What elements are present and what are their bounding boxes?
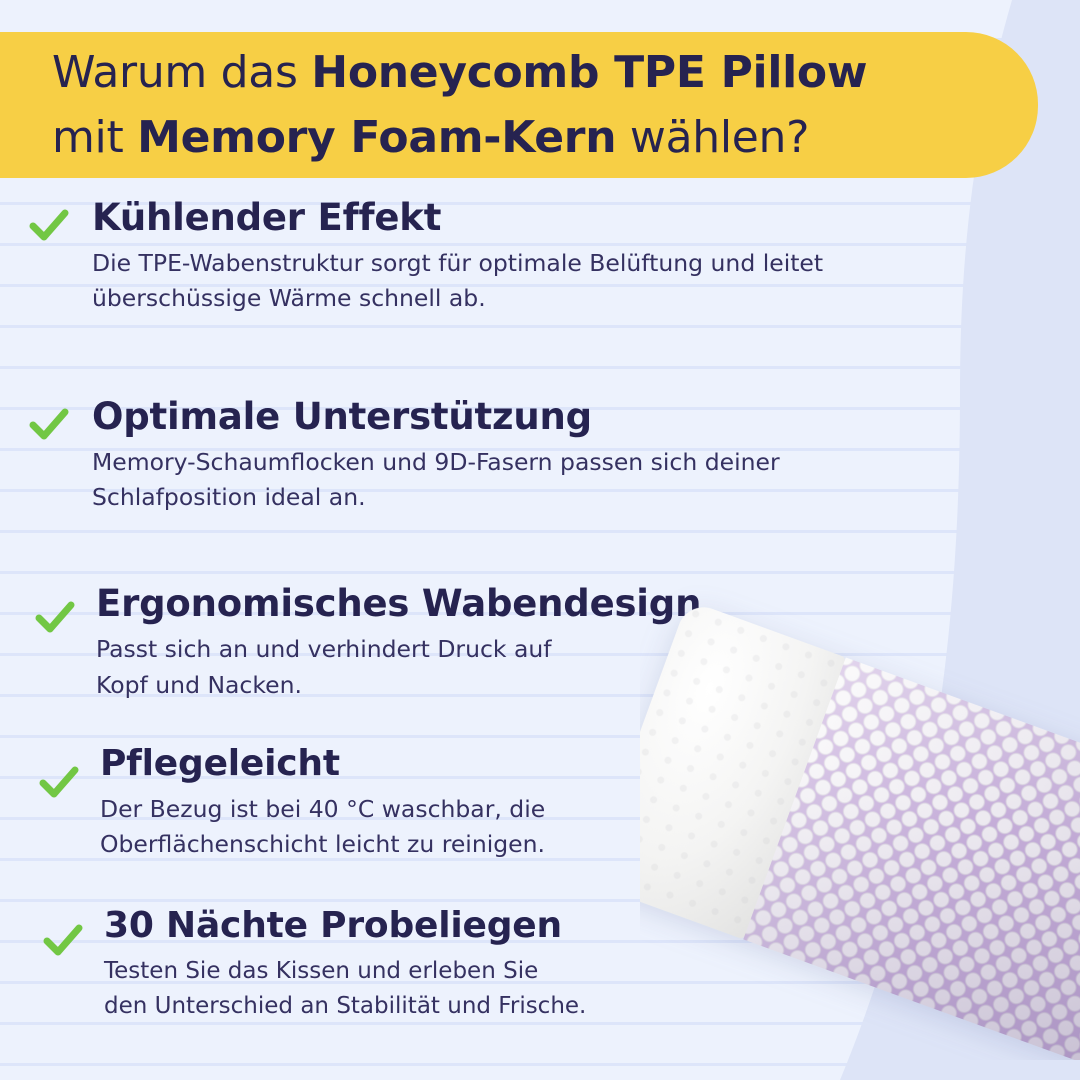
feature-title: Optimale Unterstützung [92, 395, 900, 439]
feature-description: Der Bezug ist bei 40 °C waschbar, die Ob… [100, 792, 890, 863]
header-line-1-prefix: Warum das [52, 47, 311, 98]
header-banner: Warum das Honeycomb TPE Pillow mit Memor… [0, 32, 1038, 178]
feature-title: Kühlender Effekt [92, 196, 900, 240]
feature-list: Kühlender Effekt Die TPE-Wabenstruktur s… [0, 196, 900, 1044]
feature-description-line: Oberflächenschicht leicht zu reinigen. [100, 827, 890, 863]
feature-description-line: den Unterschied an Stabilität und Frisch… [104, 989, 894, 1024]
feature-description-line: Die TPE-Wabenstruktur sorgt für optimale… [92, 246, 882, 282]
feature-description-line: Memory-Schaumflocken und 9D-Fasern passe… [92, 445, 882, 481]
feature-item-pflegeleicht: Pflegeleicht Der Bezug ist bei 40 °C was… [0, 743, 900, 863]
header-line-1: Warum das Honeycomb TPE Pillow [52, 40, 1038, 105]
feature-title: Pflegeleicht [100, 743, 900, 785]
feature-description-line: überschüssige Wärme schnell ab. [92, 281, 882, 317]
feature-item-optimale-unterstuetzung: Optimale Unterstützung Memory-Schaumfloc… [0, 395, 900, 516]
feature-description: Passt sich an und verhindert Druck auf K… [96, 632, 886, 703]
header-line-2-suffix: wählen? [616, 112, 809, 163]
header-line-2: mit Memory Foam-Kern wählen? [52, 105, 1038, 170]
feature-description: Die TPE-Wabenstruktur sorgt für optimale… [92, 246, 882, 317]
check-icon [32, 594, 78, 640]
check-icon [26, 202, 72, 248]
check-icon [40, 917, 86, 963]
feature-description: Testen Sie das Kissen und erleben Sie de… [104, 954, 894, 1024]
check-icon [26, 401, 72, 447]
feature-description-line: Der Bezug ist bei 40 °C waschbar, die [100, 792, 890, 828]
feature-description-line: Testen Sie das Kissen und erleben Sie [104, 954, 894, 989]
feature-item-30-naechte-probeliegen: 30 Nächte Probeliegen Testen Sie das Kis… [0, 905, 900, 1023]
check-icon [36, 759, 82, 805]
feature-title: Ergonomisches Wabendesign [96, 582, 900, 626]
feature-description-line: Kopf und Nacken. [96, 668, 886, 704]
feature-item-ergonomisches-wabendesign: Ergonomisches Wabendesign Passt sich an … [0, 582, 900, 703]
feature-description-line: Passt sich an und verhindert Druck auf [96, 632, 886, 668]
feature-description: Memory-Schaumflocken und 9D-Fasern passe… [92, 445, 882, 516]
header-line-2-prefix: mit [52, 112, 137, 163]
feature-item-kuehlender-effekt: Kühlender Effekt Die TPE-Wabenstruktur s… [0, 196, 900, 317]
header-line-2-bold: Memory Foam-Kern [137, 112, 616, 163]
feature-title: 30 Nächte Probeliegen [104, 905, 900, 947]
header-line-1-bold: Honeycomb TPE Pillow [311, 47, 867, 98]
feature-description-line: Schlafposition ideal an. [92, 480, 882, 516]
